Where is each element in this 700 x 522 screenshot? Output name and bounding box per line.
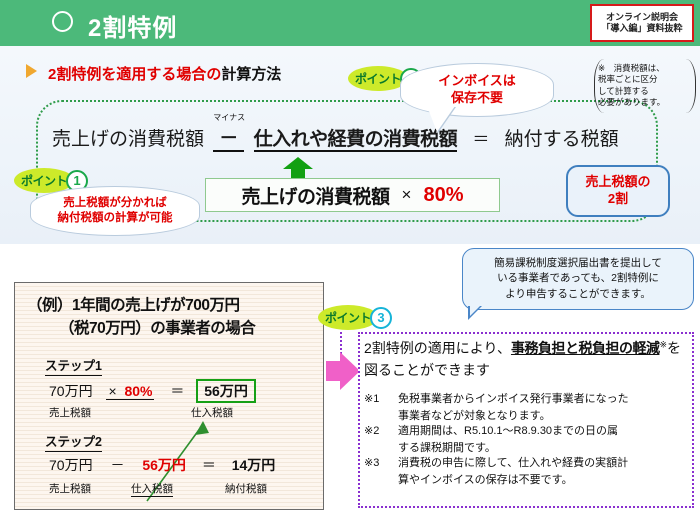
step-2-equals: ＝ (202, 457, 216, 473)
source-tag: オンライン説明会 「導入編」資料抜粋 (590, 4, 694, 42)
step-2-result: 14万円 (232, 457, 276, 473)
minus-operator: － (219, 128, 238, 149)
callout-tail-inner-icon (470, 305, 481, 316)
summary-note-3-line2: 算やインボイスの保存は不要です。 (364, 473, 694, 489)
summary-heading: 2割特例の適用により、事務負担と税負担の軽減※を図ることができます (364, 338, 694, 381)
step-1-operand-a: 70万円 (49, 383, 93, 399)
tax-rate-note: ※ 消費税額は、 税率ごとに区分 して計算する 必要があります。 (594, 59, 696, 113)
step-1-label-a: 売上税額 (49, 405, 91, 420)
summary-heading-pre: 2割特例の適用により、 (364, 340, 511, 356)
point-label-3: ポイント (318, 305, 378, 330)
point-badge-3: ポイント 3 (318, 305, 392, 330)
main-formula-result: 納付する税額 (505, 129, 619, 150)
slide-header: 2割特例 オンライン説明会 「導入編」資料抜粋 (0, 0, 700, 46)
summary-note-3-line1: 消費税の申告に際して、仕入れや経費の実額計 (398, 456, 694, 472)
source-tag-line2: 「導入編」資料抜粋 (601, 23, 682, 34)
step-1-operator: × (108, 383, 116, 399)
minus-ruby: マイナス (213, 112, 244, 123)
summary-heading-emphasis: 事務負担と税負担の軽減 (511, 340, 660, 356)
result-highlight-line1: 売上税額の (585, 174, 650, 191)
step-2-label-result: 納付税額 (225, 481, 267, 496)
summary-note-1-line2: 事業者などが対象となります。 (364, 409, 694, 425)
summary-note-3: ※3 消費税の申告に際して、仕入れや経費の実額計 (364, 456, 694, 472)
step-1-result: 56万円 (196, 379, 256, 403)
point-bubble-1-line2: 納付税額の計算が可能 (58, 211, 173, 226)
step-2-label: ステップ2 (45, 431, 102, 452)
summary-note-2-mark: ※2 (364, 424, 398, 440)
bubble-tail-icon (427, 106, 455, 132)
main-formula-term2: 仕入れや経費の消費税額 (254, 129, 458, 152)
point-bubble-1-line1: 売上税額が分かれば (63, 196, 167, 211)
point-number-3: 3 (370, 307, 392, 329)
summary-notes: ※1 免税事業者からインボイス発行事業者になった 事業者などが対象となります。 … (364, 392, 694, 489)
step-2-operand-a: 70万円 (49, 457, 93, 473)
step-2-label-b: 仕入税額 (131, 481, 173, 497)
simplified-tax-callout-line1: 簡易課税制度選択届出書を提出して (494, 256, 662, 271)
page-title: 2割特例 (88, 8, 177, 43)
simplified-tax-callout-line3: より申告することができます。 (505, 287, 651, 302)
simplified-tax-callout: 簡易課税制度選択届出書を提出して いる事業者であっても、2割特例に より申告する… (462, 248, 694, 310)
reduced-formula-operator: × (402, 185, 412, 205)
main-formula-term1: 売上げの消費税額 (52, 129, 204, 150)
section-subtitle: 2割特例を適用する場合の計算方法 (48, 63, 281, 84)
step-1-calculation: 70万円 × 80% ＝ 56万円 (49, 379, 256, 403)
point-label-2: ポイント (348, 66, 408, 91)
subtitle-black: 計算方法 (221, 66, 281, 83)
step-2-operator: － (110, 457, 124, 473)
tax-rate-note-line1: ※ 消費税額は、 (598, 63, 692, 74)
summary-note-1: ※1 免税事業者からインボイス発行事業者になった (364, 392, 694, 408)
summary-note-2-line2: する課税期間です。 (364, 441, 694, 457)
reduced-formula-box: 売上げの消費税額 × 80% (205, 178, 500, 212)
simplified-tax-callout-line2: いる事業者であっても、2割特例に (497, 271, 659, 286)
step-2-label-a: 売上税額 (49, 481, 91, 496)
circle-icon (52, 11, 73, 32)
summary-note-3-mark: ※3 (364, 456, 398, 472)
pink-right-arrow-icon (326, 352, 360, 390)
summary-note-1-line1: 免税事業者からインボイス発行事業者になった (398, 392, 694, 408)
step-1-equals: ＝ (170, 383, 184, 399)
reduced-formula-term1: 売上げの消費税額 (242, 182, 390, 209)
example-title-line1: （例）1年間の売上げが700万円 (27, 293, 239, 315)
main-formula: 売上げの消費税額 マイナス － 仕入れや経費の消費税額 ＝ 納付する税額 (52, 123, 652, 152)
summary-note-2-line1: 適用期間は、R5.10.1〜R8.9.30までの日の属 (398, 424, 694, 440)
result-highlight-box: 売上税額の 2割 (566, 165, 670, 217)
reduced-formula-rate: 80% (423, 184, 463, 207)
slide-root: 2割特例 オンライン説明会 「導入編」資料抜粋 2割特例を適用する場合の計算方法… (0, 0, 700, 522)
tax-rate-note-line4: 必要があります。 (598, 97, 692, 108)
summary-heading-sup: ※ (659, 339, 667, 349)
step-1-label: ステップ1 (45, 355, 102, 376)
tax-rate-note-line2: 税率ごとに区分 (598, 74, 692, 85)
step-2-calculation: 70万円 － 56万円 ＝ 14万円 (49, 455, 275, 475)
point-bubble-2: インボイスは 保存不要 (400, 63, 554, 117)
step-1-operand-b: 80% (124, 383, 152, 399)
example-title-line2: （税70万円）の事業者の場合 (59, 316, 255, 338)
point-bubble-1: 売上税額が分かれば 納付税額の計算が可能 (30, 186, 200, 236)
triangle-bullet-icon (26, 64, 37, 78)
point-bubble-2-line2: 保存不要 (451, 90, 503, 107)
result-highlight-line2: 2割 (608, 191, 628, 208)
point-bubble-2-line1: インボイスは (438, 73, 516, 90)
summary-note-2: ※2 適用期間は、R5.10.1〜R8.9.30までの日の属 (364, 424, 694, 440)
minus-operator-group: マイナス － (213, 123, 244, 152)
source-tag-line1: オンライン説明会 (606, 12, 678, 23)
main-formula-equals: ＝ (472, 130, 489, 149)
summary-note-1-mark: ※1 (364, 392, 398, 408)
example-box: （例）1年間の売上げが700万円 （税70万円）の事業者の場合 ステップ1 70… (14, 282, 324, 510)
tax-rate-note-line3: して計算する (598, 86, 692, 97)
step-2-operand-b: 56万円 (142, 457, 186, 473)
subtitle-red: 2割特例を適用する場合の (48, 66, 221, 83)
